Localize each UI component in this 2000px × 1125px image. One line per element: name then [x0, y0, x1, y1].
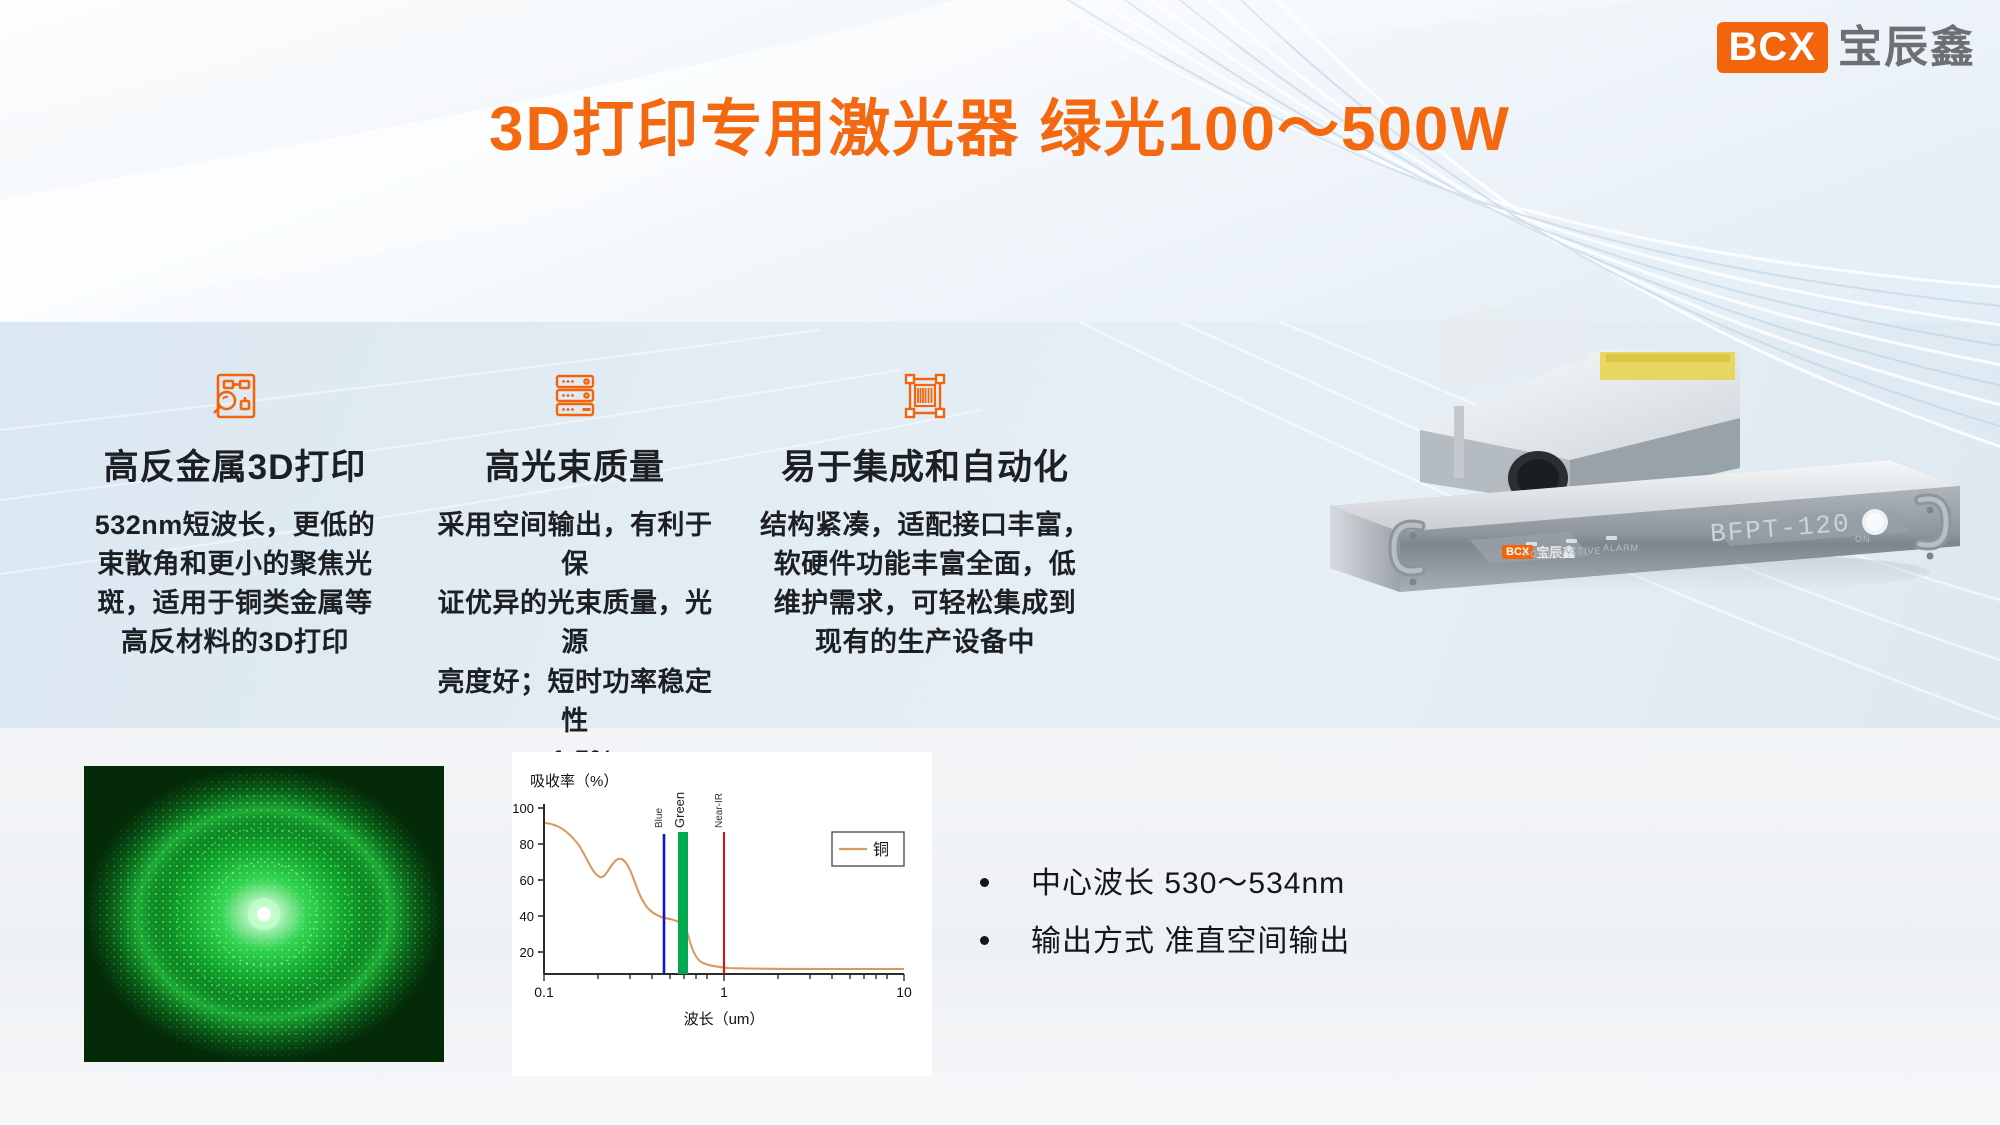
power-switch-label: ON	[1855, 534, 1871, 544]
legend-label-copper: 铜	[873, 841, 889, 859]
x-tick-1: 1	[720, 984, 728, 1000]
slide-root: BCX 宝辰鑫 3D打印专用激光器 绿光100～500W 高反金	[0, 0, 2000, 1125]
feature-body: 采用空间输出，有利于保 证优异的光束质量，光源 亮度好；短时功率稳定性 ±1.5…	[420, 506, 730, 780]
page-title: 3D打印专用激光器 绿光100～500W	[0, 78, 2000, 168]
feature-column-2: 高光束质量 采用空间输出，有利于保 证优异的光束质量，光源 亮度好；短时功率稳定…	[420, 365, 730, 780]
feature-title: 高光束质量	[420, 439, 730, 490]
feature-body-line: 软硬件功能丰富全面，低	[736, 545, 1114, 584]
marker-label-blue: Blue	[654, 808, 665, 828]
x-tick-0.1: 0.1	[534, 984, 554, 1000]
feature-title: 易于集成和自动化	[730, 439, 1120, 490]
absorption-chart: Blue Green Near-IR 100 80 60 40 20 0.1 1…	[512, 752, 932, 1076]
feature-column-1: 高反金属3D打印 532nm短波长，更低的 束散角和更小的聚焦光 斑，适用于铜类…	[50, 365, 420, 780]
feature-body-line: 束散角和更小的聚焦光	[56, 545, 414, 584]
feature-column-3: 易于集成和自动化 结构紧凑，适配接口丰富， 软硬件功能丰富全面，低 维护需求，可…	[730, 365, 1120, 780]
y-tick-60: 60	[520, 873, 534, 888]
feature-body-line: 现有的生产设备中	[736, 623, 1114, 662]
feature-body: 结构紧凑，适配接口丰富， 软硬件功能丰富全面，低 维护需求，可轻松集成到 现有的…	[730, 506, 1120, 663]
y-tick-40: 40	[520, 909, 534, 924]
feature-body-line: 证优异的光束质量，光源	[426, 584, 724, 662]
marker-green	[678, 832, 688, 974]
logo-badge-text: BCX	[1729, 27, 1816, 67]
y-axis-title: 吸收率（%）	[530, 773, 618, 790]
feature-body-line: 高反材料的3D打印	[56, 623, 414, 662]
y-tick-20: 20	[520, 945, 534, 960]
indicator-label-power: POWER	[1523, 549, 1562, 559]
indicator-label-active: ACTIVE	[1563, 546, 1602, 556]
laser-device-photo: BCX 宝辰鑫 POWER ACTIVE ALARM BFPT-120 ON	[1270, 310, 1970, 610]
bullet-dot-icon	[980, 878, 989, 887]
indicator-label-alarm: ALARM	[1603, 543, 1639, 553]
y-tick-80: 80	[520, 837, 534, 852]
x-tick-10: 10	[896, 984, 912, 1000]
feature-body-line: 532nm短波长，更低的	[56, 506, 414, 545]
feature-body: 532nm短波长，更低的 束散角和更小的聚焦光 斑，适用于铜类金属等 高反材料的…	[50, 506, 420, 663]
absorption-chart-card: Blue Green Near-IR 100 80 60 40 20 0.1 1…	[512, 752, 932, 1076]
feature-body-line: 斑，适用于铜类金属等	[56, 584, 414, 623]
barcode-scan-frame-icon	[730, 365, 1120, 427]
list-item: 输出方式 准直空间输出	[980, 916, 1350, 960]
marker-label-green: Green	[672, 792, 687, 828]
feature-body-line: 结构紧凑，适配接口丰富，	[736, 506, 1114, 545]
logo-badge: BCX	[1717, 22, 1828, 73]
feature-body-line: 采用空间输出，有利于保	[426, 506, 724, 584]
feature-columns: 高反金属3D打印 532nm短波长，更低的 束散角和更小的聚焦光 斑，适用于铜类…	[50, 365, 1290, 780]
logo-chinese-name: 宝辰鑫	[1838, 25, 1976, 71]
spec-list: 中心波长 530～534nm 输出方式 准直空间输出	[980, 858, 1350, 974]
feature-body-line: 亮度好；短时功率稳定性	[426, 663, 724, 741]
magnifier-document-icon	[50, 365, 420, 427]
marker-label-near-ir: Near-IR	[714, 793, 725, 828]
server-rack-icon	[420, 365, 730, 427]
bullet-dot-icon	[980, 936, 989, 945]
brand-logo: BCX 宝辰鑫	[1717, 22, 1976, 73]
x-axis-title: 波长（um）	[684, 1011, 765, 1028]
laser-beam-photo	[84, 766, 444, 1062]
feature-title: 高反金属3D打印	[50, 439, 420, 490]
feature-body-line: 维护需求，可轻松集成到	[736, 584, 1114, 623]
spec-label: 输出方式 准直空间输出	[1031, 916, 1350, 960]
y-tick-100: 100	[512, 801, 534, 816]
spec-label: 中心波长 530～534nm	[1031, 858, 1345, 902]
list-item: 中心波长 530～534nm	[980, 858, 1350, 902]
